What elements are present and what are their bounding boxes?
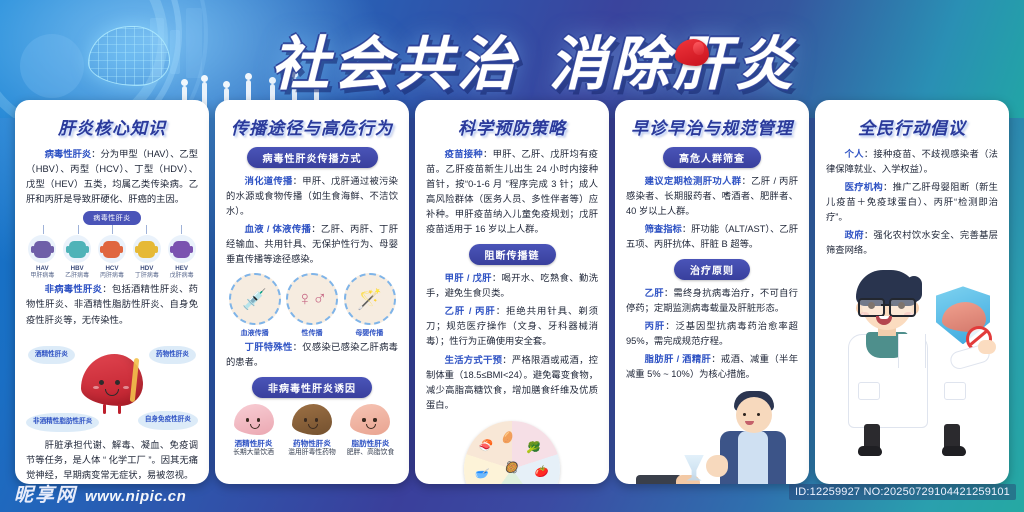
doctor-shoe bbox=[858, 446, 882, 456]
title-part-2: 消除肝炎 bbox=[549, 17, 797, 101]
watermark: 昵享网 www.nipic.cn bbox=[14, 480, 186, 507]
virus-connector-lines bbox=[26, 225, 198, 234]
cause-title: 药物性肝炎 bbox=[284, 439, 339, 449]
man-head bbox=[736, 397, 772, 433]
keyword: 疫苗接种 bbox=[445, 149, 483, 159]
cause-title: 脂肪性肝炎 bbox=[343, 439, 398, 449]
paragraph: 政府：强化农村饮水安全、完善基层筛查网络。 bbox=[826, 228, 998, 258]
panel-prevention-strategy: 科学预防策略 疫苗接种：甲肝、乙肝、戊肝均有疫苗。乙肝疫苗新生儿出生 24 小时… bbox=[415, 100, 609, 484]
paragraph: 消化道传播：甲肝、戊肝通过被污染的水源或食物传播（如生食海鲜、不洁饮水）。 bbox=[226, 174, 398, 219]
panel-row: 肝炎核心知识 病毒性肝炎：分为甲型（HAV）、乙型（HBV）、丙型（HCV）、丁… bbox=[0, 100, 1024, 484]
keyword: 血液 / 体液传播 bbox=[245, 224, 312, 234]
keyword: 甲肝 / 戊肝 bbox=[445, 273, 492, 283]
paragraph: 甲肝 / 戊肝：喝开水、吃熟食、勤洗手，避免生食贝类。 bbox=[426, 271, 598, 301]
section-pill: 病毒性肝炎传播方式 bbox=[247, 147, 378, 168]
panel-core-knowledge: 肝炎核心知识 病毒性肝炎：分为甲型（HAV）、乙型（HBV）、丙型（HCV）、丁… bbox=[15, 100, 209, 484]
liver-chip: 自身免疫性肝炎 bbox=[138, 411, 198, 430]
watermark-site-name: 昵享网 bbox=[14, 480, 77, 507]
doctor-shoe bbox=[942, 446, 966, 456]
food-plate-illustration: 🍣 🥚 🥦 🍅 🍞 🥔 🥣 🥘 bbox=[426, 417, 598, 484]
keyword: 丙肝 bbox=[645, 321, 666, 331]
virus-name: 乙肝病毒 bbox=[61, 273, 94, 281]
cause-item: 药物性肝炎 滥用肝毒性药物 bbox=[284, 404, 339, 458]
section-pill: 非病毒性肝炎诱因 bbox=[252, 377, 372, 398]
virus-circle bbox=[28, 235, 56, 263]
panel-title: 肝炎核心知识 bbox=[26, 114, 198, 139]
poster-title: 社会共治 消除肝炎 bbox=[214, 16, 854, 102]
paragraph-text: ：甲肝、乙肝、戊肝均有疫苗。乙肝疫苗新生儿出生 24 小时内接种首针，按“0-1… bbox=[426, 149, 598, 234]
paragraph: 疫苗接种：甲肝、乙肝、戊肝均有疫苗。乙肝疫苗新生儿出生 24 小时内接种首针，按… bbox=[426, 147, 598, 237]
syringe-icon: 💉 bbox=[229, 273, 281, 325]
paragraph: 生活方式干预：严格限酒或戒酒，控制体重（18.5≤BMI<24）。避免霉变食物，… bbox=[426, 353, 598, 413]
transmission-item: 🪄 母婴传播 bbox=[344, 273, 396, 338]
cause-sub: 滥用肝毒性药物 bbox=[284, 449, 339, 458]
paragraph: 乙肝 / 丙肝：拒绝共用针具、剃须刀；规范医疗操作（文身、牙科器械消毒）；性行为… bbox=[426, 304, 598, 349]
virus-item: HBV 乙肝病毒 bbox=[61, 235, 94, 280]
keyword: 建议定期检测肝功人群 bbox=[645, 176, 742, 186]
watermark-url: www.nipic.cn bbox=[85, 488, 186, 505]
virus-name: 甲肝病毒 bbox=[26, 273, 59, 281]
virus-code: HDV bbox=[130, 265, 163, 273]
paragraph: 血液 / 体液传播：乙肝、丙肝、丁肝经输血、共用针具、无保护性行为、母婴垂直传播… bbox=[226, 222, 398, 267]
keyword: 脂肪肝 / 酒精肝 bbox=[645, 354, 712, 364]
doctor-pocket bbox=[944, 382, 966, 400]
decorative-blob bbox=[20, 34, 84, 98]
virus-item: HEV 戊肝病毒 bbox=[165, 235, 198, 280]
liver-mascot-icon bbox=[81, 354, 143, 406]
paragraph: 个人：接种疫苗、不歧视感染者（法律保障就业、入学权益）。 bbox=[826, 147, 998, 177]
paragraph: 病毒性肝炎：分为甲型（HAV）、乙型（HBV）、丙型（HCV）、丁型（HDV）、… bbox=[26, 147, 198, 207]
keyword: 个人 bbox=[845, 149, 864, 159]
virus-icon bbox=[103, 241, 120, 258]
paragraph: 建议定期检测肝功人群：乙肝 / 丙肝感染者、长期服药者、嗜酒者、肥胖者、40 岁… bbox=[626, 174, 798, 219]
virus-icon bbox=[69, 241, 86, 258]
transmission-label: 性传播 bbox=[286, 328, 338, 338]
cause-item: 酒精性肝炎 长期大量饮酒 bbox=[226, 404, 281, 458]
liver-chip: 酒精性肝炎 bbox=[28, 346, 75, 365]
man-eye bbox=[757, 413, 760, 416]
keyword: 生活方式干预 bbox=[445, 355, 503, 365]
transmission-item: 💉 血液传播 bbox=[229, 273, 281, 338]
liver-glyph-icon bbox=[675, 39, 709, 66]
image-id-label: ID:12259927 NO:20250729104421259101 bbox=[789, 484, 1016, 500]
man-eye bbox=[743, 413, 746, 416]
virus-name: 丁肝病毒 bbox=[130, 273, 163, 281]
liver-chip: 药物性肝炎 bbox=[149, 346, 196, 365]
paragraph: 脂肪肝 / 酒精肝：戒酒、减重（半年减重 5% ~ 10%）为核心措施。 bbox=[626, 352, 798, 382]
section-pill: 治疗原则 bbox=[674, 259, 750, 280]
poster-root: 社会共治 消除肝炎 肝炎核心知识 病毒性肝炎：分为甲型（HAV）、乙型（HBV）… bbox=[0, 0, 1024, 512]
doctor-pocket bbox=[858, 382, 880, 400]
pregnant-icon: 🪄 bbox=[344, 273, 396, 325]
transmission-icon-row: 💉 血液传播 ♀♂ 性传播 🪄 母婴传播 bbox=[226, 273, 398, 338]
virus-item: HCV 丙肝病毒 bbox=[96, 235, 129, 280]
virus-list: HAV 甲肝病毒 HBV 乙肝病毒 HCV 丙肝病毒 bbox=[26, 235, 198, 280]
virus-name: 丙肝病毒 bbox=[96, 273, 129, 281]
transmission-label: 血液传播 bbox=[229, 328, 281, 338]
footer-bar: 昵享网 www.nipic.cn ID:12259927 NO:20250729… bbox=[0, 482, 1024, 512]
paragraph: 丙肝：泛基因型抗病毒药治愈率超 95%，需完成规范疗程。 bbox=[626, 319, 798, 349]
glasses-icon bbox=[858, 298, 916, 313]
virus-icon bbox=[173, 241, 190, 258]
cause-title: 酒精性肝炎 bbox=[226, 439, 281, 449]
virus-circle bbox=[63, 235, 91, 263]
virus-code: HEV bbox=[165, 265, 198, 273]
panel-title: 早诊早治与规范管理 bbox=[626, 114, 798, 139]
food-plate-icon: 🍣 🥚 🥦 🍅 🍞 🥔 🥣 🥘 bbox=[464, 421, 560, 484]
doctor-illustration bbox=[826, 264, 998, 460]
alcohol-liver-icon bbox=[234, 404, 274, 435]
keyword: 医疗机构 bbox=[845, 182, 883, 192]
cause-sub: 肥胖、高脂饮食 bbox=[343, 449, 398, 458]
virus-circle bbox=[168, 235, 196, 263]
virus-item: HDV 丁肝病毒 bbox=[130, 235, 163, 280]
virus-diagram-head: 病毒性肝炎 bbox=[83, 211, 141, 225]
panel-title: 传播途径与高危行为 bbox=[226, 114, 398, 139]
paragraph: 筛查指标：肝功能（ALT/AST）、乙肝五项、丙肝抗体、肝脏 B 超等。 bbox=[626, 222, 798, 252]
keyword: 筛查指标 bbox=[645, 224, 682, 234]
virus-code: HBV bbox=[61, 265, 94, 273]
cause-sub: 长期大量饮酒 bbox=[226, 449, 281, 458]
paragraph: 非病毒性肝炎：包括酒精性肝炎、药物性肝炎、非酒精性脂肪性肝炎、自身免疫性肝炎等，… bbox=[26, 282, 198, 327]
refuse-alcohol-illustration bbox=[626, 389, 798, 484]
panel-title: 科学预防策略 bbox=[426, 114, 598, 139]
panel-action-proposal: 全民行动倡议 个人：接种疫苗、不歧视感染者（法律保障就业、入学权益）。 医疗机构… bbox=[815, 100, 1009, 484]
section-pill: 阻断传播链 bbox=[469, 244, 556, 265]
keyword: 病毒性肝炎 bbox=[45, 149, 92, 159]
transmission-label: 母婴传播 bbox=[344, 328, 396, 338]
section-pill: 高危人群筛查 bbox=[663, 147, 761, 168]
virus-code: HCV bbox=[96, 265, 129, 273]
keyword: 乙肝 / 丙肝 bbox=[445, 306, 496, 316]
panel-early-diagnosis: 早诊早治与规范管理 高危人群筛查 建议定期检测肝功人群：乙肝 / 丙肝感染者、长… bbox=[615, 100, 809, 484]
paragraph: 医疗机构：推广乙肝母婴阻断（新生儿疫苗＋免疫球蛋白）、丙肝“检测即治疗”。 bbox=[826, 180, 998, 225]
fatty-liver-icon bbox=[350, 404, 390, 435]
virus-item: HAV 甲肝病毒 bbox=[26, 235, 59, 280]
title-part-1: 社会共治 bbox=[271, 17, 519, 101]
transmission-item: ♀♂ 性传播 bbox=[286, 273, 338, 338]
keyword: 消化道传播 bbox=[245, 176, 293, 186]
keyword: 乙肝 bbox=[645, 288, 664, 298]
liver-mascot-scene: 酒精性肝炎 药物性肝炎 非酒精性脂肪性肝炎 自身免疫性肝炎 bbox=[26, 332, 198, 436]
liver-mascot-legs bbox=[99, 402, 125, 414]
liver-chip: 非酒精性脂肪性肝炎 bbox=[26, 413, 99, 432]
virus-icon bbox=[138, 241, 155, 258]
virus-diagram: 病毒性肝炎 HAV 甲肝病毒 HBV 乙肝病毒 bbox=[26, 211, 198, 280]
keyword: 政府 bbox=[845, 230, 864, 240]
refusing-palm-icon bbox=[706, 455, 728, 477]
virus-circle bbox=[98, 235, 126, 263]
doctor-hand bbox=[978, 340, 996, 354]
keyword: 丁肝特殊性 bbox=[245, 342, 293, 352]
paragraph: 肝脏承担代谢、解毒、凝血、免疫调节等任务，是人体 “ 化学工厂 ”。因其无痛觉神… bbox=[26, 438, 198, 483]
drug-liver-icon bbox=[292, 404, 332, 435]
cause-item: 脂肪性肝炎 肥胖、高脂饮食 bbox=[343, 404, 398, 458]
paragraph: 丁肝特殊性：仅感染已感染乙肝病毒的患者。 bbox=[226, 340, 398, 370]
gender-icon: ♀♂ bbox=[286, 273, 338, 325]
virus-code: HAV bbox=[26, 265, 59, 273]
panel-transmission-routes: 传播途径与高危行为 病毒性肝炎传播方式 消化道传播：甲肝、戊肝通过被污染的水源或… bbox=[215, 100, 409, 484]
paragraph: 乙肝：需终身抗病毒治疗，不可自行停药；定期监测病毒载量及肝脏形态。 bbox=[626, 286, 798, 316]
doctor-lapel bbox=[898, 334, 926, 368]
title-part-2-text: 消除肝炎 bbox=[549, 32, 797, 97]
man-mouth bbox=[745, 421, 754, 425]
keyword: 非病毒性肝炎 bbox=[45, 284, 103, 294]
virus-name: 戊肝病毒 bbox=[165, 273, 198, 281]
panel-title: 全民行动倡议 bbox=[826, 114, 998, 139]
virus-icon bbox=[34, 241, 51, 258]
man-shirt bbox=[738, 431, 768, 484]
virus-circle bbox=[133, 235, 161, 263]
cause-row: 酒精性肝炎 长期大量饮酒 药物性肝炎 滥用肝毒性药物 脂肪性肝炎 肥胖、高脂饮食 bbox=[226, 404, 398, 458]
